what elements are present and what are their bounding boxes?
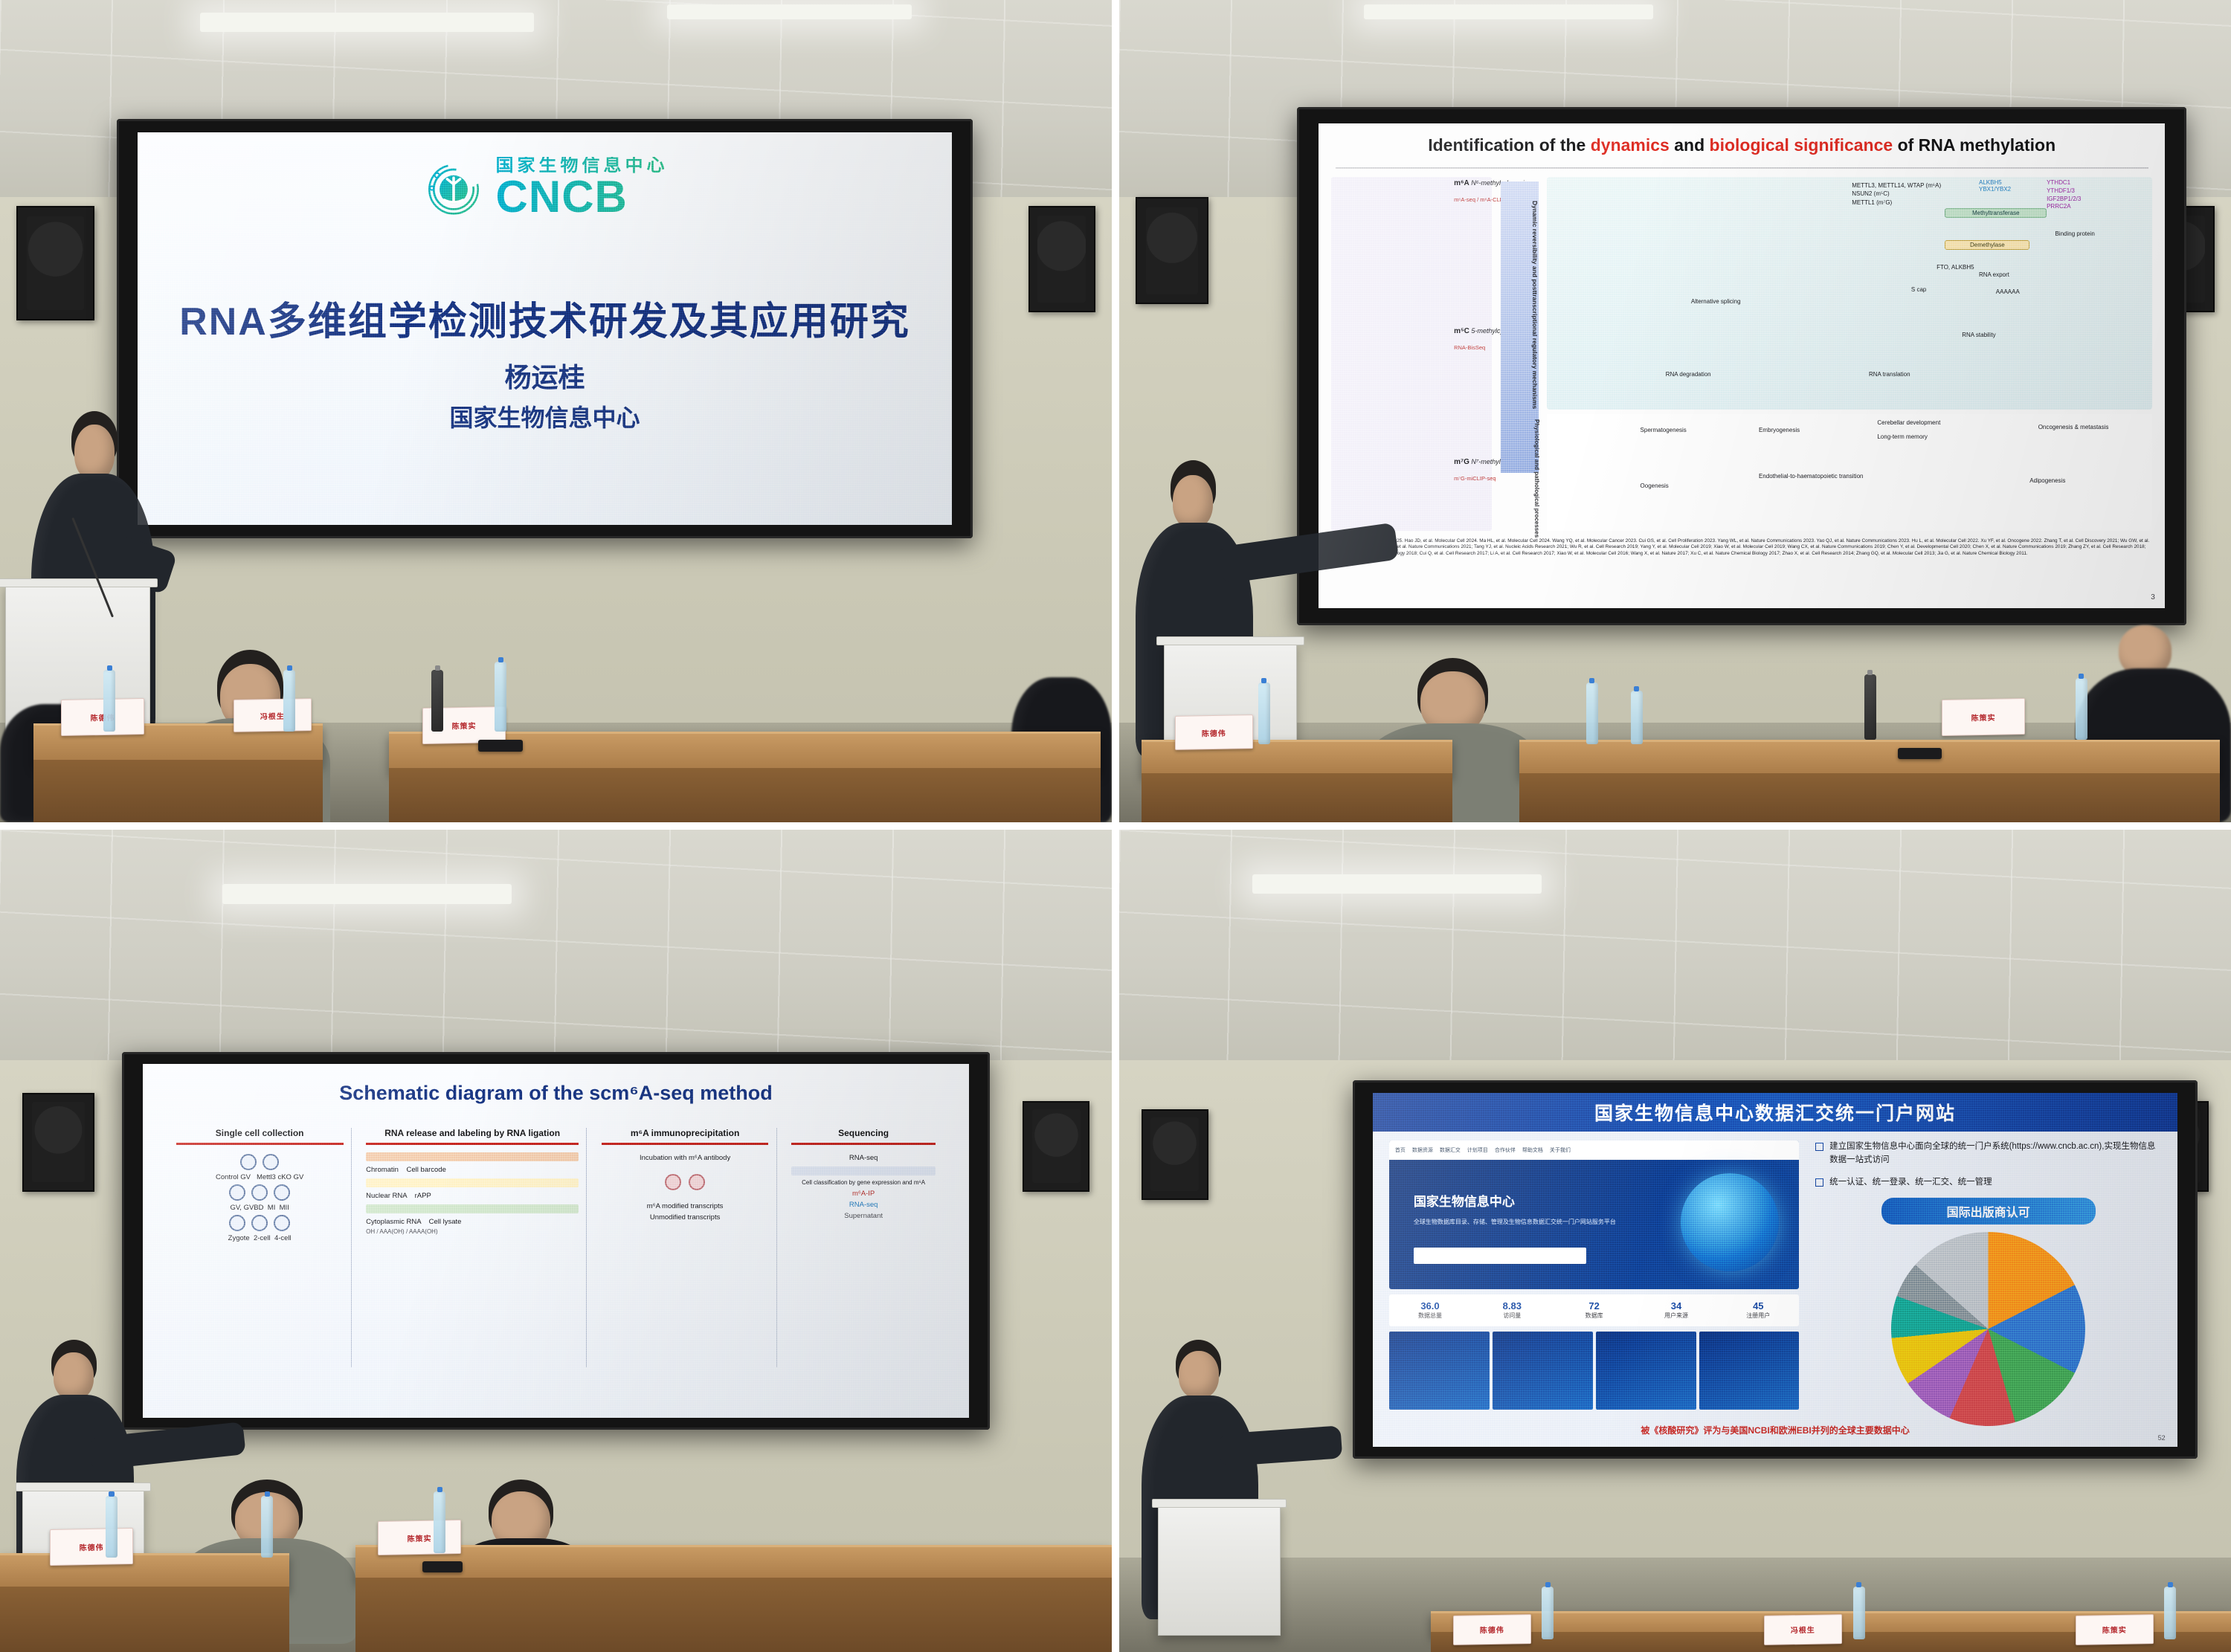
nameplate-text: 陈策实 bbox=[408, 1532, 432, 1543]
screen-surface: 国家生物信息中心 CNCB RNA多维组学检测技术研发及其应用研究 杨运桂 国家… bbox=[138, 132, 953, 525]
nav-item-help[interactable]: 帮助文档 bbox=[1522, 1146, 1543, 1154]
website-screenshot: 首页 数据资源 数据汇交 计划项目 合作伙伴 帮助文档 关于我们 国家生物信息中… bbox=[1389, 1140, 1800, 1289]
lecture-room: 国家生物信息中心数据汇交统一门户网站 首页 数据资源 数据汇交 计划项目 合作伙… bbox=[1119, 830, 2231, 1652]
slide-page-number: 52 bbox=[2158, 1434, 2166, 1442]
ceiling bbox=[0, 830, 1112, 1077]
globe-graphic bbox=[1681, 1173, 1779, 1271]
bullet-text: 统一认证、统一登录、统一汇交、统一管理 bbox=[1829, 1176, 1992, 1190]
water-bottle bbox=[283, 670, 295, 732]
process-rna-translation: RNA translation bbox=[1869, 371, 1910, 378]
nav-item-submission[interactable]: 数据汇交 bbox=[1440, 1146, 1461, 1154]
process-rna-stability: RNA stability bbox=[1962, 332, 1995, 338]
title-highlight-dynamics: dynamics bbox=[1591, 135, 1670, 155]
nav-item-resources[interactable]: 数据资源 bbox=[1412, 1146, 1433, 1154]
column-divider bbox=[586, 1128, 587, 1367]
thermos-bottle bbox=[1864, 674, 1876, 740]
stat-data-volume: 36.0数据总量 bbox=[1389, 1300, 1471, 1320]
outcome-eht: Endothelial-to-haematopoietic transition bbox=[1759, 473, 1877, 480]
column-header: Single cell collection bbox=[176, 1128, 344, 1143]
statistics-bar: 36.0数据总量 8.83访问量 72数据库 34用户来源 bbox=[1389, 1294, 1800, 1326]
database-tile[interactable] bbox=[1596, 1332, 1696, 1410]
outcome-oncogenesis: Oncogenesis & metastasis bbox=[2038, 424, 2109, 431]
mechanism-diagram bbox=[1547, 177, 2152, 410]
panel-1: 国家生物信息中心 CNCB RNA多维组学检测技术研发及其应用研究 杨运桂 国家… bbox=[0, 0, 1112, 822]
nameplate: 陈策实 bbox=[2076, 1614, 2154, 1645]
water-bottle bbox=[103, 670, 115, 732]
presenter-head bbox=[74, 425, 115, 480]
column-rule bbox=[791, 1143, 936, 1145]
water-bottle bbox=[434, 1491, 445, 1553]
presentation-screen: 国家生物信息中心数据汇交统一门户网站 首页 数据资源 数据汇交 计划项目 合作伙… bbox=[1353, 1080, 2198, 1459]
lectern bbox=[1158, 1504, 1280, 1636]
panel-2: Identification of the dynamics and biolo… bbox=[1119, 0, 2231, 822]
water-bottle bbox=[261, 1496, 273, 1558]
chem-method-m5c: RNA-BisSeq bbox=[1454, 344, 1485, 351]
slide-page-number: 3 bbox=[2151, 593, 2155, 601]
speaker-organization: 国家生物信息中心 bbox=[138, 399, 953, 433]
title-part: Identification of the bbox=[1428, 135, 1591, 155]
reference-list: Yang Y, et al. Molecular Cell 2025. Hao … bbox=[1331, 538, 2152, 601]
nameplate: 冯根生 bbox=[234, 698, 312, 732]
nav-item-home[interactable]: 首页 bbox=[1395, 1146, 1406, 1154]
lecture-room: 国家生物信息中心 CNCB RNA多维组学检测技术研发及其应用研究 杨运桂 国家… bbox=[0, 0, 1112, 822]
wall-speaker bbox=[1028, 206, 1095, 313]
outcome-cerebellar: Cerebellar development bbox=[1877, 419, 1940, 426]
cell-icon bbox=[251, 1184, 268, 1201]
chem-code: m⁶A bbox=[1454, 179, 1469, 187]
bullet-text: 建立国家生物信息中心面向全球的统一门户系统(https://www.cncb.a… bbox=[1829, 1140, 2161, 1167]
seq-track bbox=[791, 1167, 936, 1175]
water-bottle bbox=[495, 662, 506, 732]
slide-bullets-panel: 建立国家生物信息中心面向全球的统一门户系统(https://www.cncb.a… bbox=[1815, 1140, 2161, 1410]
cell-icon bbox=[240, 1154, 257, 1170]
smartphone bbox=[478, 740, 523, 751]
slide-banner: 国家生物信息中心数据汇交统一门户网站 bbox=[1373, 1093, 2177, 1132]
stat-users: 45注册用户 bbox=[1717, 1300, 1799, 1320]
stat-countries: 34用户来源 bbox=[1635, 1300, 1717, 1320]
cytoplasmic-rna-strip bbox=[366, 1204, 579, 1213]
chem-code: m⁷G bbox=[1454, 458, 1469, 466]
nameplate-text: 陈德伟 bbox=[1479, 1624, 1504, 1636]
speaker-name: 杨运桂 bbox=[138, 356, 953, 395]
outcome-embryogenesis: Embryogenesis bbox=[1759, 427, 1800, 433]
cell-icon bbox=[229, 1215, 245, 1231]
wall-speaker bbox=[1142, 1109, 1208, 1200]
title-highlight-significance: biological significance bbox=[1710, 135, 1893, 155]
desk-front bbox=[355, 1578, 1112, 1652]
checkbox-icon bbox=[1815, 1178, 1823, 1187]
nameplate-text: 陈策实 bbox=[1971, 712, 1996, 723]
column-rule bbox=[366, 1143, 579, 1145]
website-search-input[interactable] bbox=[1414, 1248, 1586, 1264]
cell-icon bbox=[274, 1215, 290, 1231]
chromatin-strip bbox=[366, 1152, 579, 1161]
column-m6a-ip: m⁶A immunoprecipitation Incubation with … bbox=[602, 1128, 769, 1383]
ceiling bbox=[1119, 830, 2231, 1077]
desk bbox=[355, 1545, 1112, 1582]
lectern-top bbox=[16, 1482, 151, 1491]
panel-3: Schematic diagram of the scm⁶A-seq metho… bbox=[0, 830, 1112, 1652]
desk-front bbox=[33, 760, 323, 822]
lecture-room: Schematic diagram of the scm⁶A-seq metho… bbox=[0, 830, 1112, 1652]
website-title: 国家生物信息中心 bbox=[1414, 1191, 1515, 1210]
nameplate: 冯根生 bbox=[1764, 1614, 1842, 1645]
database-tile[interactable] bbox=[1389, 1332, 1490, 1410]
process-alt-splicing: Alternative splicing bbox=[1691, 298, 1741, 305]
database-tiles bbox=[1389, 1332, 1800, 1410]
nav-item-about[interactable]: 关于我们 bbox=[1550, 1146, 1571, 1154]
cell-icon bbox=[251, 1215, 268, 1231]
cell-icon bbox=[229, 1184, 245, 1201]
smartphone bbox=[1898, 748, 1942, 758]
publisher-pie-chart bbox=[1891, 1232, 2084, 1425]
desk-front bbox=[389, 768, 1101, 822]
ceiling-grid bbox=[1119, 830, 2231, 1077]
smartphone bbox=[422, 1561, 463, 1572]
nameplate-text: 陈策实 bbox=[452, 720, 477, 732]
nameplate: 陈策实 bbox=[378, 1520, 461, 1555]
ceiling-light bbox=[222, 884, 512, 904]
water-bottle bbox=[2164, 1587, 2176, 1640]
column-divider bbox=[776, 1128, 777, 1367]
photo-collage: 国家生物信息中心 CNCB RNA多维组学检测技术研发及其应用研究 杨运桂 国家… bbox=[0, 0, 2231, 1652]
presentation-screen: 国家生物信息中心 CNCB RNA多维组学检测技术研发及其应用研究 杨运桂 国家… bbox=[117, 119, 973, 538]
ceiling-grid bbox=[0, 830, 1112, 1077]
water-bottle bbox=[2076, 678, 2087, 740]
cncb-globe-icon bbox=[422, 156, 486, 220]
title-part: of RNA methylation bbox=[1893, 135, 2055, 155]
nameplate-text: 冯根生 bbox=[260, 709, 285, 721]
nameplate: 陈德伟 bbox=[50, 1528, 133, 1566]
water-bottle bbox=[1631, 691, 1643, 744]
wall-speaker bbox=[22, 1093, 94, 1192]
column-divider bbox=[351, 1128, 352, 1367]
slide-rna-methylation: Identification of the dynamics and biolo… bbox=[1319, 123, 2166, 608]
presentation-screen: Schematic diagram of the scm⁶A-seq metho… bbox=[122, 1052, 989, 1430]
process-rna-export: RNA export bbox=[1979, 271, 2009, 278]
demethylase-box: Demethylase bbox=[1945, 240, 2029, 250]
stat-databases: 72数据库 bbox=[1553, 1300, 1635, 1320]
water-bottle bbox=[1542, 1587, 1554, 1640]
nameplate: 陈德伟 bbox=[1175, 714, 1253, 750]
title-rule bbox=[1336, 167, 2148, 169]
outcome-adipogenesis: Adipogenesis bbox=[2029, 477, 2065, 484]
mechanism-arrow-label: Dynamic reversibility and posttranscript… bbox=[1504, 201, 1539, 409]
chem-method-m7g: m⁷G-miCLIP-seq bbox=[1454, 475, 1496, 482]
column-rule bbox=[602, 1143, 769, 1145]
outcome-memory: Long-term memory bbox=[1877, 433, 1928, 440]
column-header: RNA release and labeling by RNA ligation bbox=[366, 1128, 579, 1143]
nav-item-projects[interactable]: 计划项目 bbox=[1467, 1146, 1488, 1154]
reader-proteins: YTHDC1 YTHDF1/3 IGF2BP1/2/3 PRRC2A bbox=[2047, 179, 2081, 211]
thermos-bottle bbox=[431, 670, 443, 732]
cell-icon bbox=[274, 1184, 290, 1201]
method-columns: Single cell collection Control GV Mettl3… bbox=[176, 1128, 936, 1383]
water-bottle bbox=[1258, 683, 1270, 744]
water-bottle bbox=[106, 1496, 117, 1558]
desk-front bbox=[0, 1587, 289, 1652]
cncb-logo-text: 国家生物信息中心 CNCB bbox=[496, 157, 669, 219]
stat-visits: 8.83访问量 bbox=[1471, 1300, 1553, 1320]
desk-front bbox=[1519, 773, 2220, 822]
nameplate-text: 陈德伟 bbox=[1202, 727, 1226, 739]
column-body: Control GV Mettl3 cKO GV GV, GVBD MI MII… bbox=[176, 1152, 344, 1245]
methyltransferase-box: Methyltransferase bbox=[1945, 208, 2047, 218]
ceiling-light bbox=[200, 13, 534, 32]
eraser-enzymes: FTO, ALKBH5 bbox=[1937, 264, 1974, 271]
slide-title: Schematic diagram of the scm⁶A-seq metho… bbox=[143, 1082, 968, 1105]
lecture-room: Identification of the dynamics and biolo… bbox=[1119, 0, 2231, 822]
desk bbox=[1519, 740, 2220, 777]
column-body: Incubation with m⁶A antibody m⁶A modifie… bbox=[602, 1152, 769, 1224]
database-tile[interactable] bbox=[1699, 1332, 1800, 1410]
process-s-cap: S cap bbox=[1911, 286, 1926, 293]
nameplate: 陈德伟 bbox=[1453, 1614, 1531, 1645]
nameplate-text: 冯根生 bbox=[1791, 1624, 1815, 1636]
ceiling-light bbox=[1364, 4, 1653, 19]
wall-speaker bbox=[1136, 197, 1208, 304]
column-header: m⁶A immunoprecipitation bbox=[602, 1128, 769, 1143]
physiology-side-label: Physiological and pathological processes bbox=[1507, 419, 1541, 538]
reader-protein-ybx: ALKBH5 YBX1/YBX2 bbox=[1979, 179, 2011, 193]
bead-icon bbox=[689, 1174, 705, 1190]
wall-speaker bbox=[16, 206, 94, 321]
outcome-oogenesis: Oogenesis bbox=[1641, 483, 1669, 489]
title-part: and bbox=[1670, 135, 1710, 155]
slide-cncb-portal: 国家生物信息中心数据汇交统一门户网站 首页 数据资源 数据汇交 计划项目 合作伙… bbox=[1373, 1093, 2177, 1447]
column-single-cell-collection: Single cell collection Control GV Mettl3… bbox=[176, 1128, 344, 1383]
bullet-item: 统一认证、统一登录、统一汇交、统一管理 bbox=[1815, 1176, 2161, 1190]
cncb-logo-en: CNCB bbox=[496, 175, 669, 219]
slide-scm6a-seq: Schematic diagram of the scm⁶A-seq metho… bbox=[143, 1064, 968, 1418]
cncb-logo: 国家生物信息中心 CNCB bbox=[422, 156, 669, 220]
column-body: RNA-seq Cell classification by gene expr… bbox=[791, 1152, 936, 1222]
lectern-top bbox=[1152, 1499, 1287, 1508]
nuclear-rna-strip bbox=[366, 1178, 579, 1187]
nameplate: 陈策实 bbox=[1942, 698, 2025, 736]
process-rna-degradation: RNA degradation bbox=[1666, 371, 1711, 378]
screen-surface: Identification of the dynamics and biolo… bbox=[1319, 123, 2166, 608]
nav-item-partners[interactable]: 合作伙伴 bbox=[1495, 1146, 1516, 1154]
presentation-screen: Identification of the dynamics and biolo… bbox=[1297, 107, 2186, 625]
presenter-head bbox=[1173, 475, 1213, 529]
nameplate-text: 陈策实 bbox=[2102, 1624, 2127, 1636]
chem-code: m⁵C bbox=[1454, 327, 1469, 335]
outcome-spermatogenesis: Spermatogenesis bbox=[1641, 427, 1687, 433]
checkbox-icon bbox=[1815, 1143, 1823, 1151]
desk-front bbox=[1142, 773, 1453, 822]
wall-speaker bbox=[1023, 1101, 1089, 1192]
column-rna-release: RNA release and labeling by RNA ligation… bbox=[366, 1128, 579, 1383]
screen-surface: 国家生物信息中心数据汇交统一门户网站 首页 数据资源 数据汇交 计划项目 合作伙… bbox=[1373, 1093, 2177, 1447]
binding-protein-label: Binding protein bbox=[2055, 230, 2094, 237]
presenter-head bbox=[1179, 1351, 1219, 1398]
desk bbox=[0, 1553, 289, 1590]
presenter-head bbox=[54, 1352, 94, 1400]
cell-icon bbox=[263, 1154, 279, 1170]
writer-enzymes: METTL3, METTL14, WTAP (m⁶A) NSUN2 (m⁵C) … bbox=[1852, 181, 1941, 207]
ceiling-light bbox=[667, 4, 912, 19]
publisher-recognition-pill: 国际出版商认可 bbox=[1881, 1198, 2096, 1225]
screen-surface: Schematic diagram of the scm⁶A-seq metho… bbox=[143, 1064, 968, 1418]
database-tile[interactable] bbox=[1493, 1332, 1593, 1410]
column-header: Sequencing bbox=[791, 1128, 936, 1143]
bead-icon bbox=[665, 1174, 681, 1190]
slide-title: RNA多维组学检测技术研发及其应用研究 bbox=[138, 290, 953, 346]
website-navbar: 首页 数据资源 数据汇交 计划项目 合作伙伴 帮助文档 关于我们 bbox=[1389, 1140, 1800, 1160]
slide-footnote: 被《核酸研究》评为与美国NCBI和欧洲EBI并列的全球主要数据中心 bbox=[1397, 1424, 2154, 1436]
panel-4: 国家生物信息中心数据汇交统一门户网站 首页 数据资源 数据汇交 计划项目 合作伙… bbox=[1119, 830, 2231, 1652]
website-subtitle: 全球生物数据库目录、存储、管理及生物信息数据汇交统一门户网站服务平台 bbox=[1414, 1218, 1627, 1227]
slide-title-page: 国家生物信息中心 CNCB RNA多维组学检测技术研发及其应用研究 杨运桂 国家… bbox=[138, 132, 953, 525]
bullet-item: 建立国家生物信息中心面向全球的统一门户系统(https://www.cncb.a… bbox=[1815, 1140, 2161, 1167]
column-body: Chromatin Cell barcode Nuclear RNA rAPP … bbox=[366, 1152, 579, 1237]
process-polya: AAAAAA bbox=[1996, 288, 2020, 295]
lectern-top bbox=[0, 578, 158, 587]
lectern-top bbox=[1156, 636, 1304, 645]
slide-title: Identification of the dynamics and biolo… bbox=[1336, 135, 2148, 155]
column-sequencing: Sequencing RNA-seq Cell classification b… bbox=[791, 1128, 936, 1383]
nameplate-text: 陈德伟 bbox=[80, 1541, 104, 1553]
column-rule bbox=[176, 1143, 344, 1145]
ceiling-light bbox=[1252, 874, 1542, 894]
banner-title: 国家生物信息中心数据汇交统一门户网站 bbox=[1594, 1099, 1956, 1126]
water-bottle bbox=[1586, 683, 1598, 744]
water-bottle bbox=[1853, 1587, 1865, 1640]
